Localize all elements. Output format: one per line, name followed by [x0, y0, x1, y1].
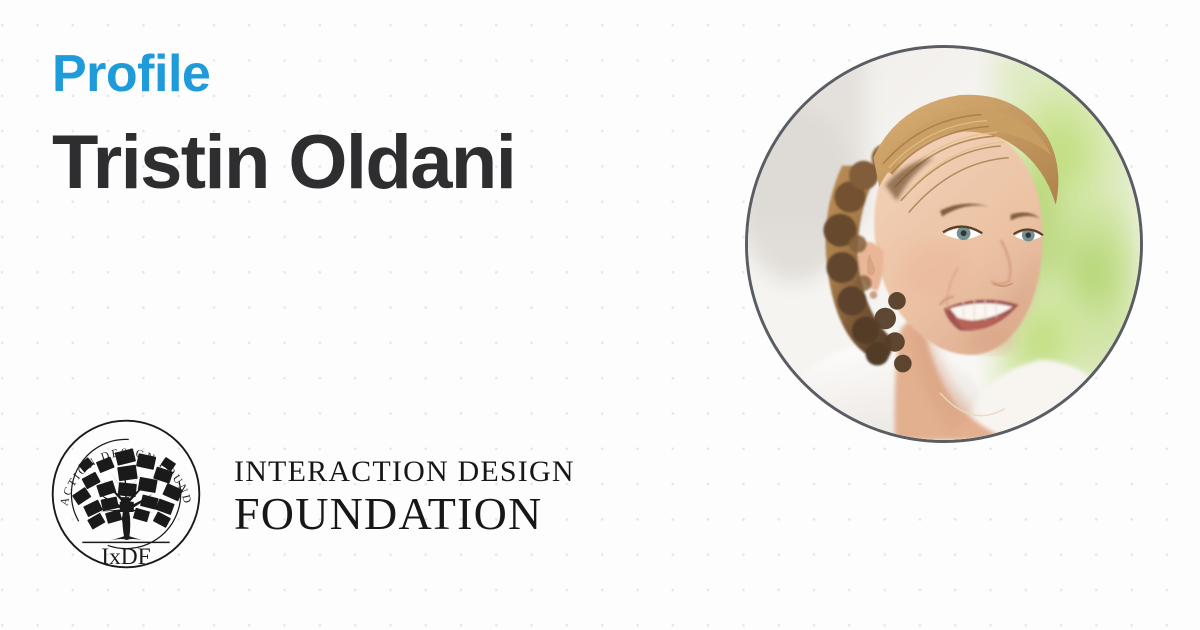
- brand-lockup: INTERACTION DESIGN FOUNDATION: [48, 416, 575, 572]
- seal-monogram: IxDF: [101, 544, 150, 570]
- avatar: [745, 45, 1143, 443]
- ixdf-seal-logo: INTERACTION DESIGN FOUNDATION: [48, 416, 204, 572]
- avatar-photo: [748, 48, 1140, 440]
- ixdf-wordmark: INTERACTION DESIGN FOUNDATION: [234, 451, 575, 537]
- profile-share-card: Profile Tristin Oldani: [0, 0, 1200, 630]
- page-eyebrow-profile: Profile: [52, 48, 692, 101]
- wordmark-line-foundation: FOUNDATION: [234, 491, 575, 537]
- headline-block: Profile Tristin Oldani: [52, 48, 692, 203]
- wordmark-line-interaction-design: INTERACTION DESIGN: [234, 457, 575, 487]
- page-title-person-name: Tristin Oldani: [52, 123, 692, 203]
- avatar-ring: [745, 45, 1143, 443]
